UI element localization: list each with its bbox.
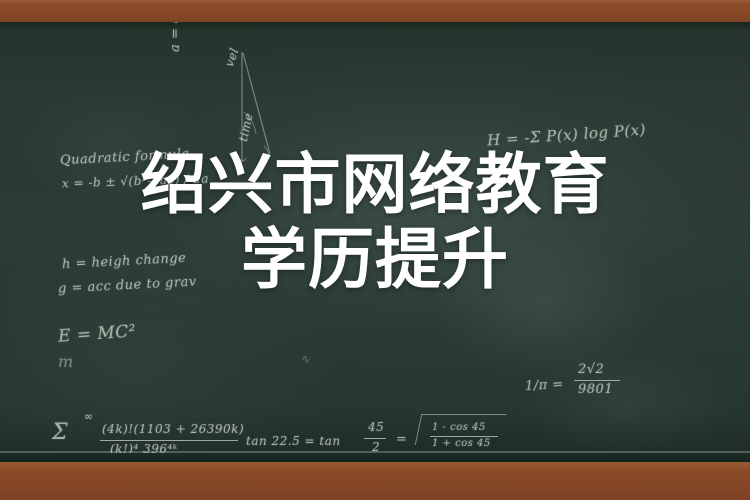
chalk-tangent-numerator: 45: [368, 420, 384, 434]
chalk-summation-upper-limit: ∞: [84, 410, 94, 423]
chalk-summation-sigma: Σ: [52, 420, 68, 445]
chalkboard-banner: a = change in vel time Quadratic formula…: [0, 0, 750, 500]
chalk-pi-identity-lhs: 1/π =: [525, 377, 564, 394]
chalk-vertical-note-1: a = change in: [168, 22, 183, 52]
chalk-fraction-bar: [430, 436, 498, 437]
frame-top: [0, 0, 750, 22]
chalk-fraction-bar: [364, 438, 386, 439]
chalk-equals-sign: =: [396, 432, 407, 447]
frame-top-highlight: [0, 0, 750, 3]
chalk-fraction-bar: [574, 380, 620, 381]
chalk-pi-identity-numerator: 2√2: [578, 362, 604, 377]
board-edge-top: [0, 22, 750, 29]
board-edge-bottom: [0, 453, 750, 462]
chalk-sqrt-denominator: 1 + cos 45: [432, 438, 491, 449]
chalk-faint-mark-1: m: [58, 352, 74, 371]
chalk-fraction-bar: [100, 440, 238, 441]
chalk-smudge: [520, 342, 730, 462]
banner-headline: 绍兴市网络教育 学历提升: [0, 150, 750, 295]
headline-line-1: 绍兴市网络教育: [0, 150, 750, 219]
chalk-mass-energy-formula: E = MC²: [57, 321, 136, 346]
chalk-ramanujan-numerator: (4k)!(1103 + 26390k): [102, 422, 244, 436]
chalk-sqrt-numerator: 1 - cos 45: [432, 422, 486, 433]
chalk-tangent-lhs: tan 22.5 = tan: [246, 434, 341, 448]
chalk-faint-mark-2: ∿: [300, 352, 311, 366]
headline-line-2: 学历提升: [0, 225, 750, 294]
frame-bottom: [0, 462, 750, 500]
chalk-pi-identity-denominator: 9801: [578, 382, 613, 397]
